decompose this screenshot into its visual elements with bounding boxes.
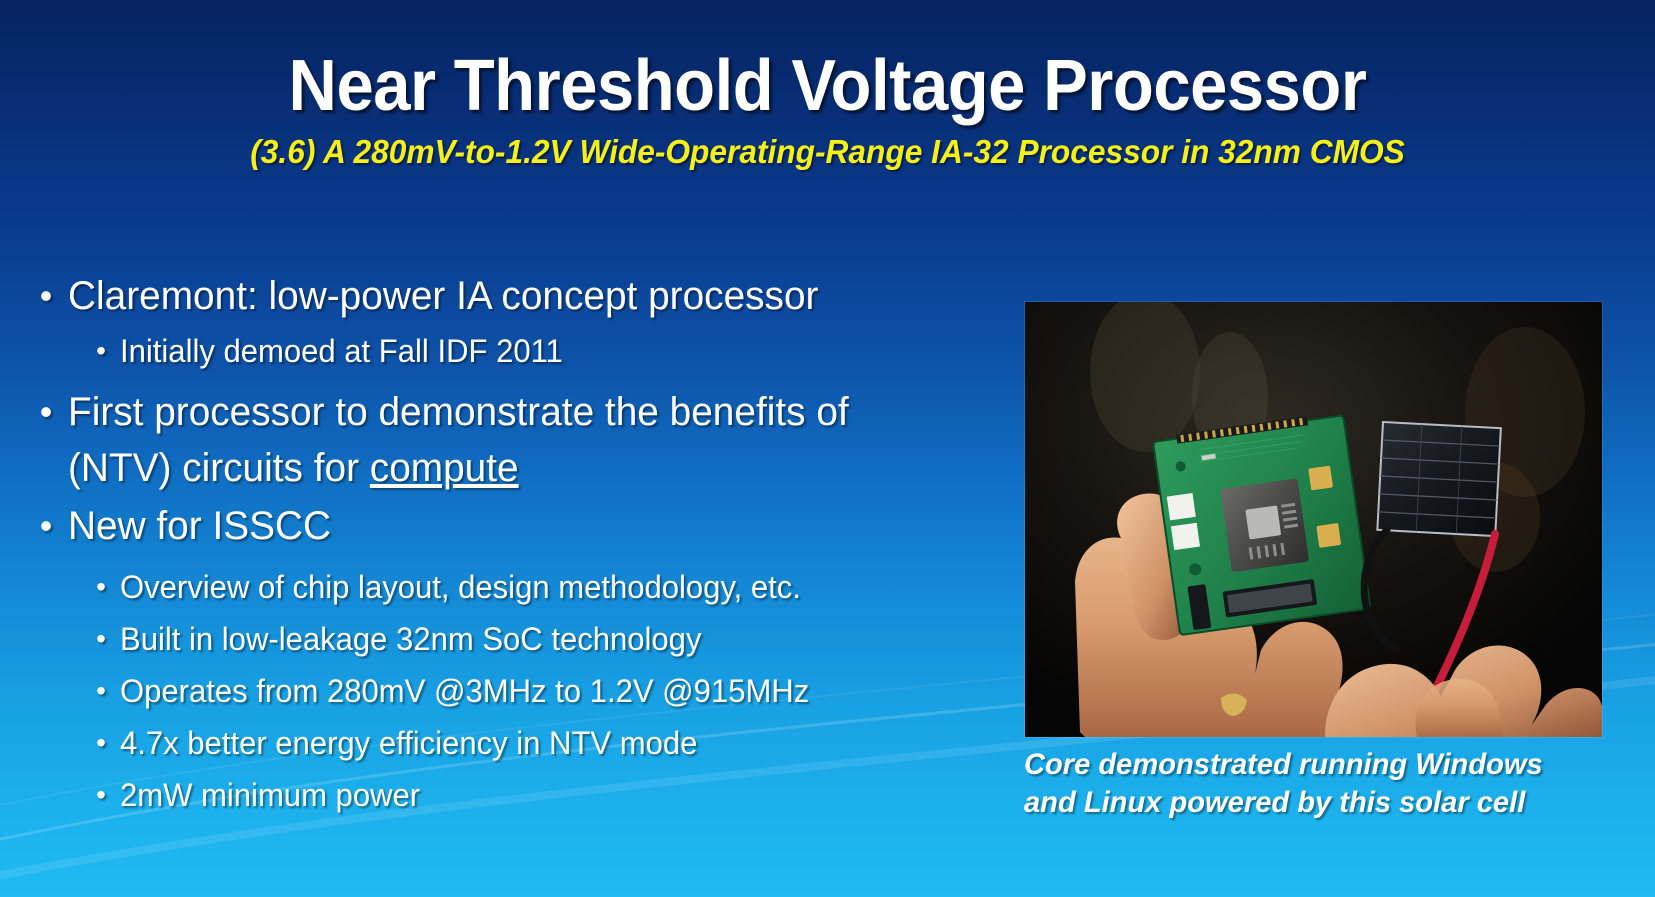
list-item-label: 4.7x better energy efficiency in NTV mod… [120,718,939,768]
list-item: • First processor to demonstrate the ben… [24,384,964,496]
bullet-dot-icon: • [82,770,120,820]
bullet-dot-icon: • [82,614,120,664]
bullet-dot-icon: • [82,326,120,376]
photo-caption-line-2: and Linux powered by this solar cell [1024,784,1596,822]
bullet-dot-icon: • [82,666,120,716]
list-item: • 2mW minimum power [82,770,964,820]
bullet-dot-icon: • [82,718,120,768]
list-item-label: First processor to demonstrate the benef… [68,384,937,496]
presentation-slide: Near Threshold Voltage Processor (3.6) A… [0,0,1655,897]
bullet-dot-icon: • [82,562,120,612]
photo-caption: Core demonstrated running Windows and Li… [1024,746,1596,822]
list-item: • Claremont: low-power IA concept proces… [24,268,964,324]
list-item-label: New for ISSCC [68,498,937,554]
list-item-label: Initially demoed at Fall IDF 2011 [120,326,939,376]
list-item: • Built in low-leakage 32nm SoC technolo… [82,614,964,664]
bullet-dot-icon: • [24,498,68,554]
page-subtitle: (3.6) A 280mV-to-1.2V Wide-Operating-Ran… [33,132,1622,172]
bullet-list: • Claremont: low-power IA concept proces… [24,268,964,822]
list-item-label: Built in low-leakage 32nm SoC technology [120,614,939,664]
list-item-label: Overview of chip layout, design methodol… [120,562,939,612]
title-block: Near Threshold Voltage Processor (3.6) A… [0,46,1655,172]
list-item-label: Operates from 280mV @3MHz to 1.2V @915MH… [120,666,939,716]
list-item: • Operates from 280mV @3MHz to 1.2V @915… [82,666,964,716]
demo-photo [1025,302,1602,737]
list-item-label: 2mW minimum power [120,770,939,820]
bullet-dot-icon: • [24,268,68,324]
list-item: • New for ISSCC [24,498,964,554]
bullet-dot-icon: • [24,384,68,440]
list-item: • Initially demoed at Fall IDF 2011 [82,326,964,376]
list-item: • 4.7x better energy efficiency in NTV m… [82,718,964,768]
list-item: • Overview of chip layout, design method… [82,562,964,612]
page-title: Near Threshold Voltage Processor [58,46,1597,126]
list-item-emphasis: compute [370,446,519,490]
photo-caption-line-1: Core demonstrated running Windows [1024,746,1596,784]
list-item-label: Claremont: low-power IA concept processo… [68,268,937,324]
